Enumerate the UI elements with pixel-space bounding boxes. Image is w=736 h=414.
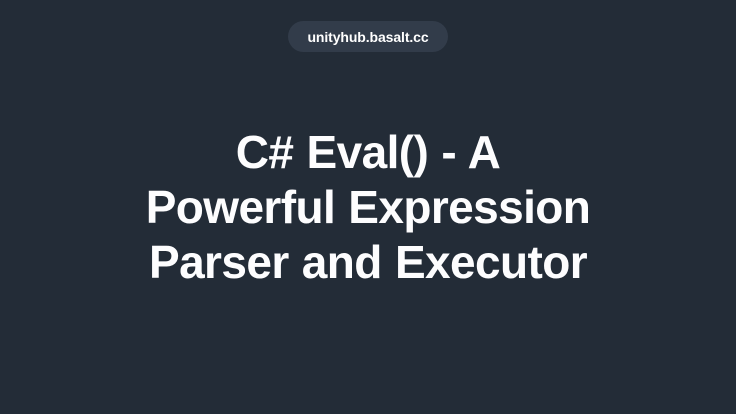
domain-badge: unityhub.basalt.cc (288, 21, 447, 52)
domain-badge-label: unityhub.basalt.cc (307, 30, 428, 44)
page-title: C# Eval() - A Powerful Expression Parser… (137, 125, 599, 290)
social-preview-card: unityhub.basalt.cc C# Eval() - A Powerfu… (0, 0, 736, 414)
hero-section: C# Eval() - A Powerful Expression Parser… (0, 0, 736, 414)
